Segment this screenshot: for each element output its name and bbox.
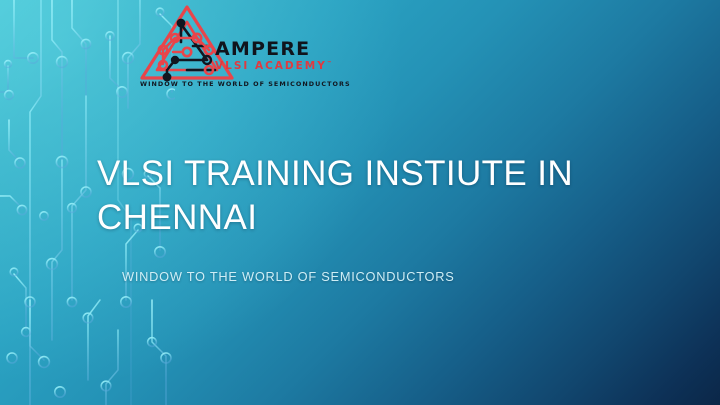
- slide-subtitle: WINDOW TO THE WORLD OF SEMICONDUCTORS: [122, 269, 642, 284]
- logo-wordmark-vlsi-academy: VLSI ACADEMY™: [215, 61, 327, 72]
- trademark-symbol: ™: [327, 61, 332, 67]
- slide-title: VLSI TRAINING INSTIUTE IN CHENNAI: [97, 152, 617, 240]
- logo-wordmark-ampere: AMPERE: [215, 40, 327, 59]
- logo-wordmark-group: AMPERE VLSI ACADEMY™: [215, 40, 327, 72]
- logo-tagline: WINDOW TO THE WORLD OF SEMICONDUCTORS: [140, 80, 351, 88]
- ampere-vlsi-academy-logo: AMPERE VLSI ACADEMY™ WINDOW TO THE WORLD…: [137, 2, 327, 98]
- presentation-slide: AMPERE VLSI ACADEMY™ WINDOW TO THE WORLD…: [0, 0, 720, 405]
